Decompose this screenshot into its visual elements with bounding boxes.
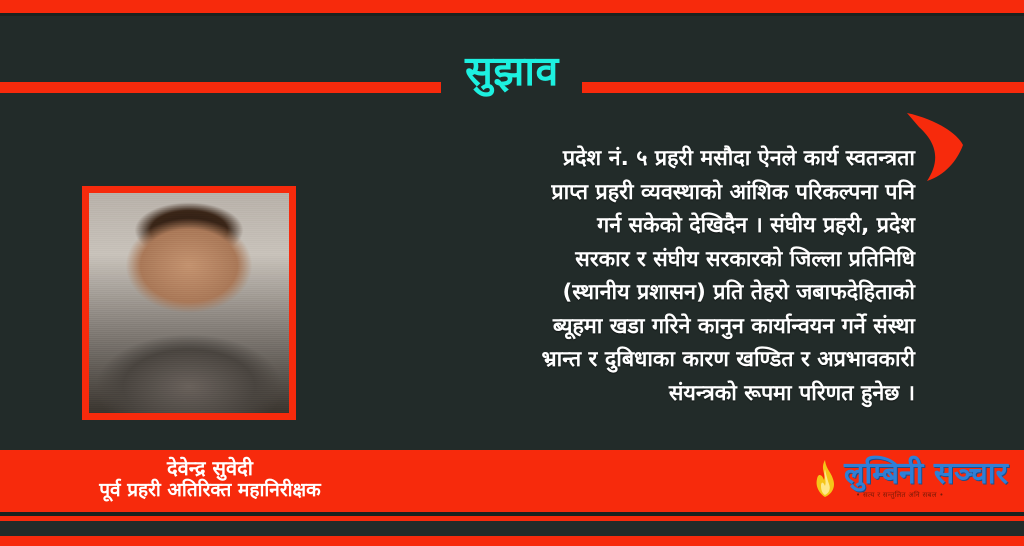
article-line: प्राप्त प्रहरी व्यवस्थाको आंशिक परिकल्पन… <box>360 176 915 210</box>
top-accent-bar-shadow <box>0 13 1024 16</box>
article-line: भ्रान्त र दुबिधाका कारण खण्डित र अप्रभाव… <box>360 343 915 377</box>
title-row: सुझाव <box>0 44 1024 100</box>
footer-stripe-dark <box>0 521 1024 536</box>
article-line: ब्यूहमा खडा गरिने कानुन कार्यान्वयन गर्न… <box>360 310 915 344</box>
brand-tagline: • सत्य र सन्तुलित अनि सबल • <box>856 491 944 500</box>
article-body: प्रदेश नं. ५ प्रहरी मसौदा ऐनले कार्य स्व… <box>360 142 915 410</box>
avatar <box>89 193 289 413</box>
article-line: संयन्त्रको रूपमा परिणत हुनेछ । <box>360 377 915 411</box>
author-name: देवेन्द्र सुवेदी <box>0 456 420 480</box>
brand-name: लुम्बिनी सञ्चार <box>844 454 1008 494</box>
top-accent-bar <box>0 0 1024 13</box>
footer-stripe-red-lower <box>0 536 1024 546</box>
brand-logo[interactable]: लुम्बिनी सञ्चार • सत्य र सन्तुलित अनि सब… <box>612 452 962 508</box>
photo-grain-overlay <box>89 193 289 413</box>
page-title: सुझाव <box>0 44 1024 98</box>
article-line: सरकार र संघीय सरकारको जिल्ला प्रतिनिधि <box>360 243 915 277</box>
article-quote-card: सुझाव प्रदेश नं. ५ प्रहरी मसौदा ऐनले कार… <box>0 0 1024 546</box>
author-role: पूर्व प्रहरी अतिरिक्त महानिरीक्षक <box>0 478 420 502</box>
author-photo-frame <box>82 186 296 420</box>
article-line: गर्न सकेको देखिदैन । संघीय प्रहरी, प्रदे… <box>360 209 915 243</box>
article-line: (स्थानीय प्रशासन) प्रति तेहरो जबाफदेहिता… <box>360 276 915 310</box>
flame-icon <box>812 460 838 498</box>
article-line: प्रदेश नं. ५ प्रहरी मसौदा ऐनले कार्य स्व… <box>360 142 915 176</box>
